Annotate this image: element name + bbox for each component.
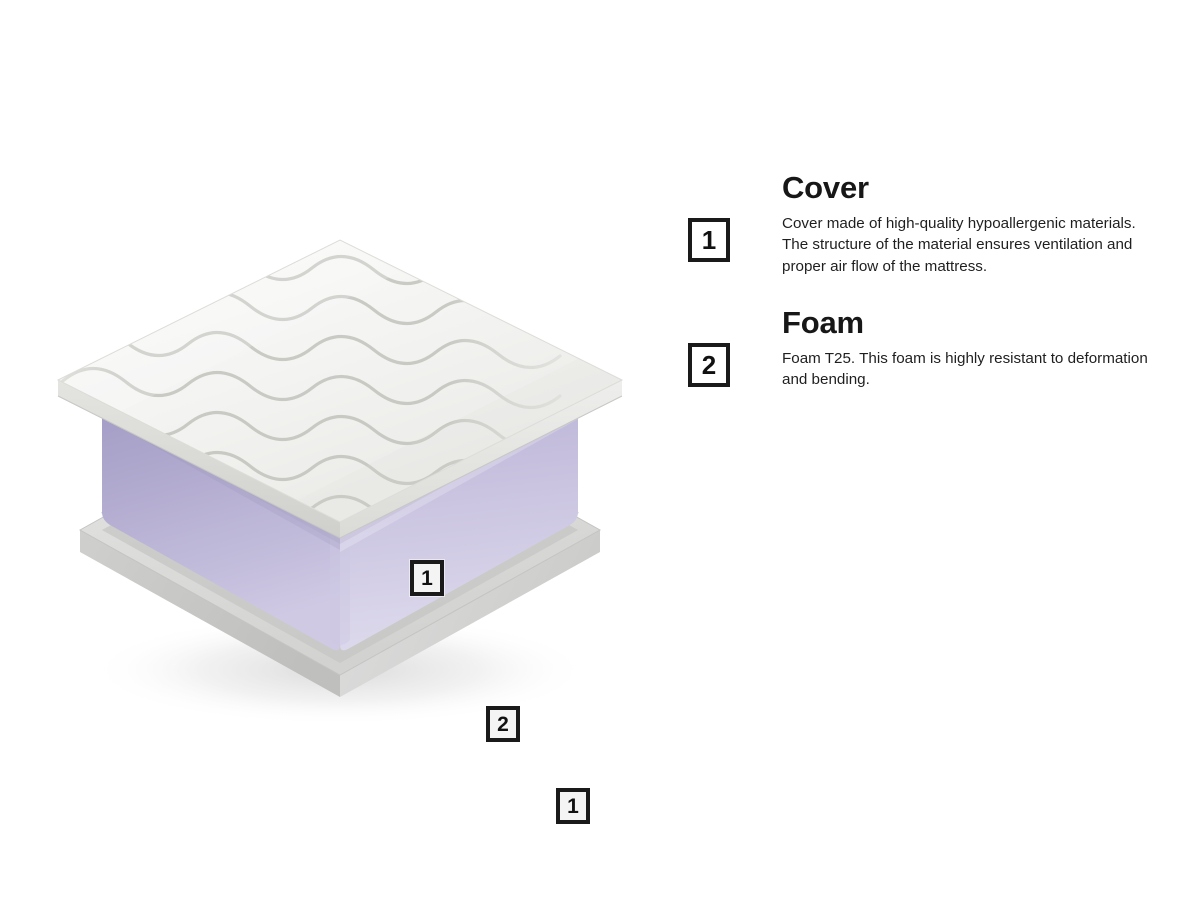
legend-badge-1: 1 <box>688 218 730 262</box>
legend-description-cover: Cover made of high-quality hypoallergeni… <box>782 213 1154 278</box>
mattress-illustration: 1 2 1 <box>40 200 660 760</box>
legend-body-foam: Foam Foam T25. This foam is highly resis… <box>782 307 1158 391</box>
legend-entry-cover: 1 Cover Cover made of high-quality hypoa… <box>688 172 1158 277</box>
legend-title-cover: Cover <box>782 172 1158 205</box>
mattress-exploded-svg <box>40 200 660 760</box>
legend-badge-2: 2 <box>688 343 730 387</box>
legend-title-foam: Foam <box>782 307 1158 340</box>
legend-description-foam: Foam T25. This foam is highly resistant … <box>782 348 1154 391</box>
legend-list: 1 Cover Cover made of high-quality hypoa… <box>688 172 1158 391</box>
callout-badge-base-cover: 1 <box>556 788 590 824</box>
callout-badge-foam-side: 2 <box>486 706 520 742</box>
legend-body-cover: Cover Cover made of high-quality hypoall… <box>782 172 1158 277</box>
legend-entry-foam: 2 Foam Foam T25. This foam is highly res… <box>688 307 1158 391</box>
callout-badge-cover-top: 1 <box>410 560 444 596</box>
